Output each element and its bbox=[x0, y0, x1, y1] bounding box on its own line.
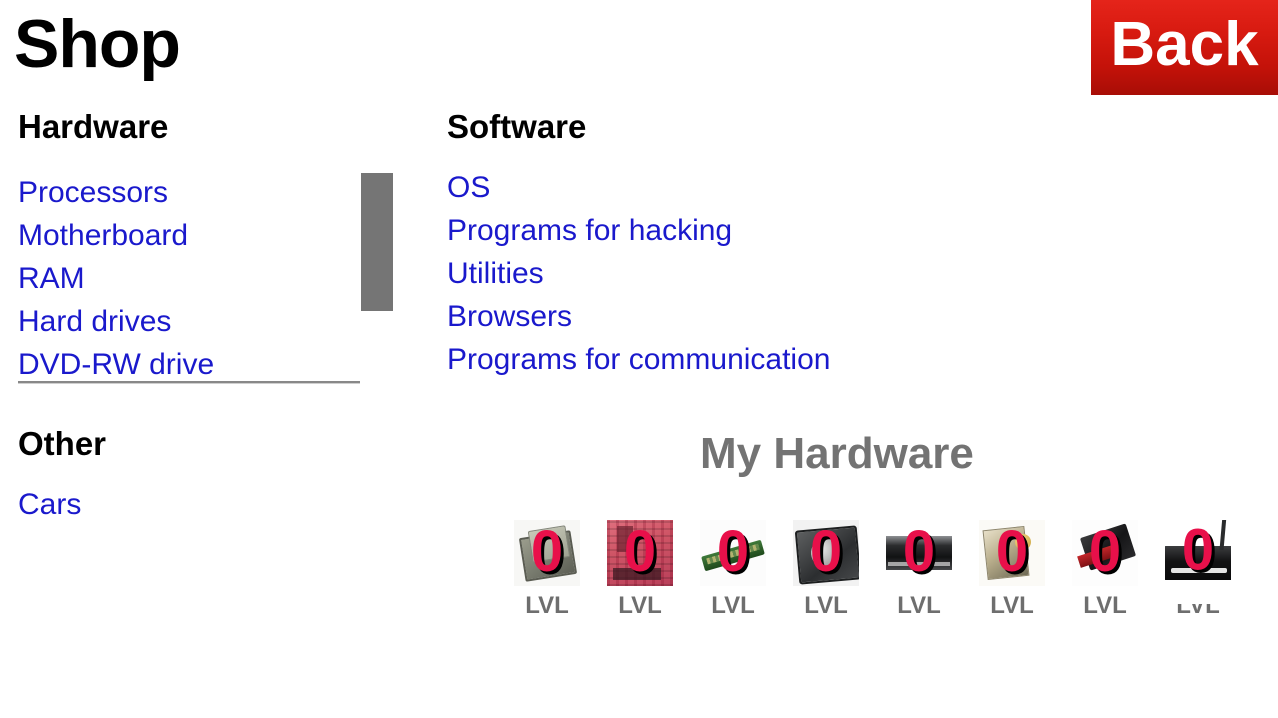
hardware-list-scrollbar-thumb[interactable] bbox=[361, 173, 393, 311]
my-hardware-item-motherboard[interactable]: 0 LVL bbox=[598, 520, 682, 625]
software-link-os[interactable]: OS bbox=[447, 166, 887, 209]
dvd-drive-thumb: 0 bbox=[886, 520, 952, 586]
other-list[interactable]: Cars bbox=[18, 483, 361, 526]
software-list[interactable]: OS Programs for hacking Utilities Browse… bbox=[447, 166, 887, 386]
hardware-list[interactable]: Processors Motherboard RAM Hard drives D… bbox=[18, 171, 361, 383]
ram-thumb: 0 bbox=[700, 520, 766, 586]
power-supply-level-label: LVL bbox=[970, 594, 1054, 618]
my-hardware-item-hard-drive[interactable]: 0 LVL bbox=[784, 520, 868, 625]
power-supply-level-value: 0 bbox=[979, 523, 1045, 581]
software-link-programs-for-communication[interactable]: Programs for communication bbox=[447, 338, 887, 381]
software-link-programs-for-hacking[interactable]: Programs for hacking bbox=[447, 209, 887, 252]
page-title: Shop bbox=[14, 10, 180, 78]
hardware-link-motherboard[interactable]: Motherboard bbox=[18, 214, 361, 257]
hard-drive-thumb: 0 bbox=[793, 520, 859, 586]
software-link-utilities[interactable]: Utilities bbox=[447, 252, 887, 295]
router-thumb: 0 bbox=[1165, 520, 1231, 604]
shop-screen: Shop Back Hardware Processors Motherboar… bbox=[0, 0, 1278, 718]
ram-level-label: LVL bbox=[691, 594, 775, 618]
my-hardware-item-cpu[interactable]: 0 LVL bbox=[505, 520, 589, 625]
motherboard-level-value: 0 bbox=[607, 523, 673, 581]
hardware-link-processors[interactable]: Processors bbox=[18, 171, 361, 214]
my-hardware-title: My Hardware bbox=[700, 432, 974, 476]
dvd-drive-level-label: LVL bbox=[877, 594, 961, 618]
router-level-value: 0 bbox=[1165, 521, 1231, 579]
hardware-heading: Hardware bbox=[18, 110, 168, 143]
hardware-link-hard-drives[interactable]: Hard drives bbox=[18, 300, 361, 343]
hardware-link-ram[interactable]: RAM bbox=[18, 257, 361, 300]
hard-drive-level-value: 0 bbox=[793, 523, 859, 581]
graphics-card-thumb: 0 bbox=[1072, 520, 1138, 586]
my-hardware-item-dvd-drive[interactable]: 0 LVL bbox=[877, 520, 961, 625]
cpu-level-label: LVL bbox=[505, 594, 589, 618]
motherboard-level-label: LVL bbox=[598, 594, 682, 618]
cpu-thumb: 0 bbox=[514, 520, 580, 586]
graphics-card-level-value: 0 bbox=[1072, 523, 1138, 581]
my-hardware-item-ram[interactable]: 0 LVL bbox=[691, 520, 775, 625]
other-heading: Other bbox=[18, 427, 106, 460]
hardware-list-divider bbox=[18, 381, 360, 384]
cpu-level-value: 0 bbox=[514, 523, 580, 581]
my-hardware-item-router[interactable]: 0 LVL bbox=[1156, 520, 1240, 625]
my-hardware-item-power-supply[interactable]: 0 LVL bbox=[970, 520, 1054, 625]
my-hardware-row: 0 LVL 0 LVL 0 LVL 0 LVL bbox=[505, 520, 1250, 625]
motherboard-thumb: 0 bbox=[607, 520, 673, 586]
graphics-card-level-label: LVL bbox=[1063, 594, 1147, 618]
dvd-drive-level-value: 0 bbox=[886, 523, 952, 581]
ram-level-value: 0 bbox=[700, 523, 766, 581]
hardware-link-dvd-rw-drive[interactable]: DVD-RW drive bbox=[18, 343, 361, 383]
back-button[interactable]: Back bbox=[1091, 0, 1278, 95]
software-link-browsers[interactable]: Browsers bbox=[447, 295, 887, 338]
software-heading: Software bbox=[447, 110, 586, 143]
power-supply-thumb: 0 bbox=[979, 520, 1045, 586]
other-link-cars[interactable]: Cars bbox=[18, 483, 361, 526]
my-hardware-item-graphics-card[interactable]: 0 LVL bbox=[1063, 520, 1147, 625]
hard-drive-level-label: LVL bbox=[784, 594, 868, 618]
